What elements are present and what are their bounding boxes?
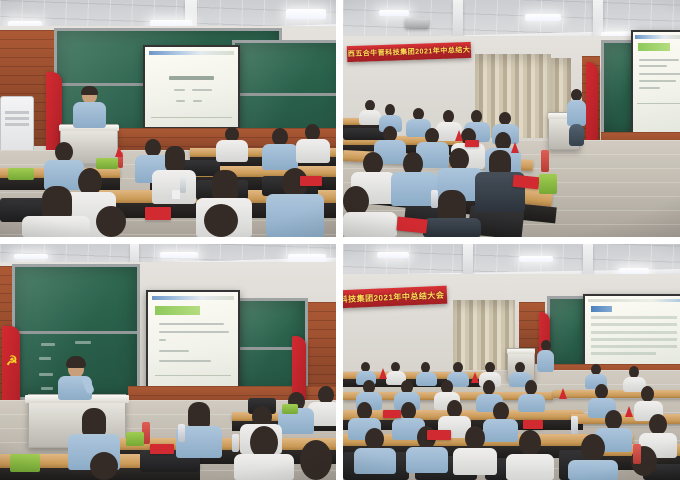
mini-flag bbox=[511, 142, 519, 153]
slide-surface bbox=[148, 292, 238, 390]
slide-line bbox=[159, 360, 211, 362]
red-booklet bbox=[150, 444, 174, 454]
green-bag bbox=[126, 432, 144, 446]
ceiling-light bbox=[14, 254, 48, 259]
attendee-head bbox=[96, 206, 126, 237]
chalk-writing bbox=[39, 357, 51, 360]
slide-rule bbox=[637, 103, 680, 104]
attendee-torso bbox=[453, 448, 497, 475]
slide-toolbar bbox=[635, 35, 680, 39]
slide-heading bbox=[591, 306, 613, 312]
attendee-torso bbox=[266, 194, 324, 237]
attendee-head bbox=[365, 428, 384, 450]
chalk-writing bbox=[39, 373, 53, 376]
slide-line bbox=[639, 73, 680, 75]
red-booklet bbox=[427, 430, 451, 440]
slide-surface bbox=[633, 32, 680, 134]
slide-toolbar bbox=[152, 296, 235, 300]
table-row bbox=[591, 345, 677, 348]
attendee-torso bbox=[343, 212, 397, 237]
green-bag bbox=[96, 158, 118, 169]
event-banner-text: 科技集团2021年中总结大会 bbox=[343, 289, 445, 305]
speaker-torso bbox=[73, 102, 106, 128]
attendee-torso bbox=[359, 110, 381, 125]
attendee-torso bbox=[406, 447, 448, 473]
slide-title bbox=[169, 76, 214, 80]
mini-flag bbox=[455, 130, 463, 141]
attendee-head bbox=[465, 426, 485, 450]
ceiling-light bbox=[160, 252, 198, 258]
attendee-head bbox=[641, 386, 654, 402]
ceiling-light bbox=[377, 252, 409, 258]
photo-collage: 江西五合牛晋科技集团2021年中总结大会 bbox=[0, 0, 680, 480]
attendee-torso bbox=[354, 448, 396, 474]
green-bag bbox=[10, 454, 40, 472]
red-booklet bbox=[145, 207, 171, 220]
green-bag bbox=[539, 174, 557, 194]
red-booklet bbox=[396, 216, 427, 233]
speaker-hair bbox=[66, 356, 86, 368]
attendee-torso bbox=[518, 394, 545, 412]
photo-panel-bottom-right: 科技集团2021年中总结大会 bbox=[343, 244, 680, 480]
slide-line bbox=[159, 350, 190, 352]
projection-screen bbox=[146, 290, 240, 392]
slide-heading bbox=[638, 43, 670, 51]
attendee-head bbox=[483, 380, 495, 395]
table-row bbox=[591, 352, 656, 355]
speaker-torso bbox=[567, 100, 586, 126]
projection-screen bbox=[631, 30, 680, 136]
ceiling-beam bbox=[453, 0, 463, 40]
attendee-torso bbox=[234, 454, 294, 480]
table-row bbox=[591, 331, 677, 334]
red-booklet bbox=[465, 140, 479, 147]
board-divider bbox=[15, 331, 137, 334]
ceiling-light bbox=[286, 9, 326, 19]
ceiling-light bbox=[525, 14, 561, 21]
slide-line bbox=[159, 331, 229, 333]
desk bbox=[553, 390, 680, 398]
red-booklet bbox=[523, 420, 543, 429]
attendee-head bbox=[525, 380, 537, 395]
window-blinds bbox=[453, 300, 515, 370]
speaker-torso bbox=[537, 350, 554, 372]
table-row bbox=[591, 338, 677, 341]
slide-line bbox=[159, 339, 166, 341]
ceiling-light bbox=[379, 10, 409, 16]
attendee-torso bbox=[416, 372, 437, 386]
chalk-writing bbox=[41, 343, 55, 346]
attendee-torso bbox=[216, 140, 248, 162]
attendee-head bbox=[90, 452, 118, 480]
water-bottle bbox=[178, 424, 185, 442]
attendee-head bbox=[595, 384, 608, 399]
slide-surface bbox=[145, 47, 238, 127]
red-booklet bbox=[300, 176, 322, 186]
podium-top bbox=[507, 349, 535, 354]
slide-footer-rule bbox=[151, 117, 233, 118]
slide-line bbox=[639, 80, 675, 82]
water-bottle bbox=[180, 176, 186, 193]
slide-line bbox=[176, 100, 185, 102]
slide-toolbar bbox=[149, 51, 235, 55]
water-bottle bbox=[571, 416, 578, 434]
slide-rule bbox=[155, 375, 231, 376]
ac-vent bbox=[5, 111, 29, 114]
attendee-head bbox=[165, 146, 185, 172]
slide-toolbar bbox=[588, 299, 680, 303]
attendee-head bbox=[55, 142, 73, 162]
attendee-torso bbox=[483, 419, 518, 442]
mini-flag bbox=[559, 388, 567, 399]
attendee-torso bbox=[262, 144, 298, 170]
attendee-head bbox=[605, 410, 622, 430]
board-divider bbox=[235, 93, 336, 96]
mini-flag bbox=[625, 406, 633, 417]
mini-flag bbox=[379, 368, 387, 379]
slide-line bbox=[639, 65, 667, 67]
attendee-head bbox=[581, 434, 605, 462]
slide-line bbox=[639, 87, 660, 89]
red-booklet bbox=[383, 410, 401, 418]
ceiling-light bbox=[519, 256, 553, 262]
projection-screen bbox=[583, 294, 680, 370]
attendee-torso bbox=[568, 460, 618, 480]
speaker-hair bbox=[81, 86, 98, 95]
slide-line bbox=[174, 89, 185, 91]
ceiling-beam bbox=[463, 244, 473, 278]
projector bbox=[405, 18, 429, 28]
attendee-head bbox=[300, 440, 332, 480]
photo-panel-top-right: 江西五合牛晋科技集团2021年中总结大会 bbox=[343, 0, 680, 237]
table-row bbox=[591, 323, 677, 326]
attendee-torso bbox=[506, 454, 554, 480]
mini-flag bbox=[471, 372, 479, 383]
green-bag bbox=[282, 404, 298, 414]
slide-heading bbox=[155, 306, 200, 315]
table-row bbox=[591, 316, 677, 319]
event-banner-text: 江西五合牛晋科技集团2021年中总结大会 bbox=[347, 45, 471, 60]
ac-vent bbox=[5, 123, 29, 126]
slide-surface bbox=[585, 296, 680, 368]
mini-flag bbox=[115, 146, 123, 157]
attendee-head bbox=[649, 414, 667, 435]
projection-screen bbox=[143, 45, 240, 129]
photo-panel-bottom-left: ☭ bbox=[0, 244, 336, 480]
water-bottle bbox=[232, 434, 239, 452]
slide-line bbox=[639, 59, 679, 61]
slide-line bbox=[193, 100, 201, 102]
attendee-torso bbox=[296, 139, 330, 163]
water-bottle bbox=[541, 150, 549, 172]
slide-line bbox=[192, 89, 212, 91]
red-booklet bbox=[512, 175, 539, 190]
attendee-head bbox=[204, 204, 238, 237]
hammer-sickle-icon: ☭ bbox=[6, 354, 18, 367]
paper-cup bbox=[172, 190, 180, 199]
chalk-writing bbox=[41, 387, 53, 390]
slide-line bbox=[159, 323, 224, 325]
red-flag bbox=[586, 62, 598, 142]
speaker-legs bbox=[569, 124, 584, 146]
water-bottle bbox=[633, 444, 641, 464]
attendee-torso bbox=[423, 218, 481, 237]
ac-vent bbox=[5, 117, 29, 120]
photo-panel-top-left bbox=[0, 0, 336, 237]
green-bag bbox=[8, 168, 34, 180]
chalk-writing bbox=[75, 341, 91, 344]
attendee-torso bbox=[22, 216, 90, 237]
attendee-head bbox=[519, 430, 541, 456]
water-bottle bbox=[431, 190, 438, 208]
